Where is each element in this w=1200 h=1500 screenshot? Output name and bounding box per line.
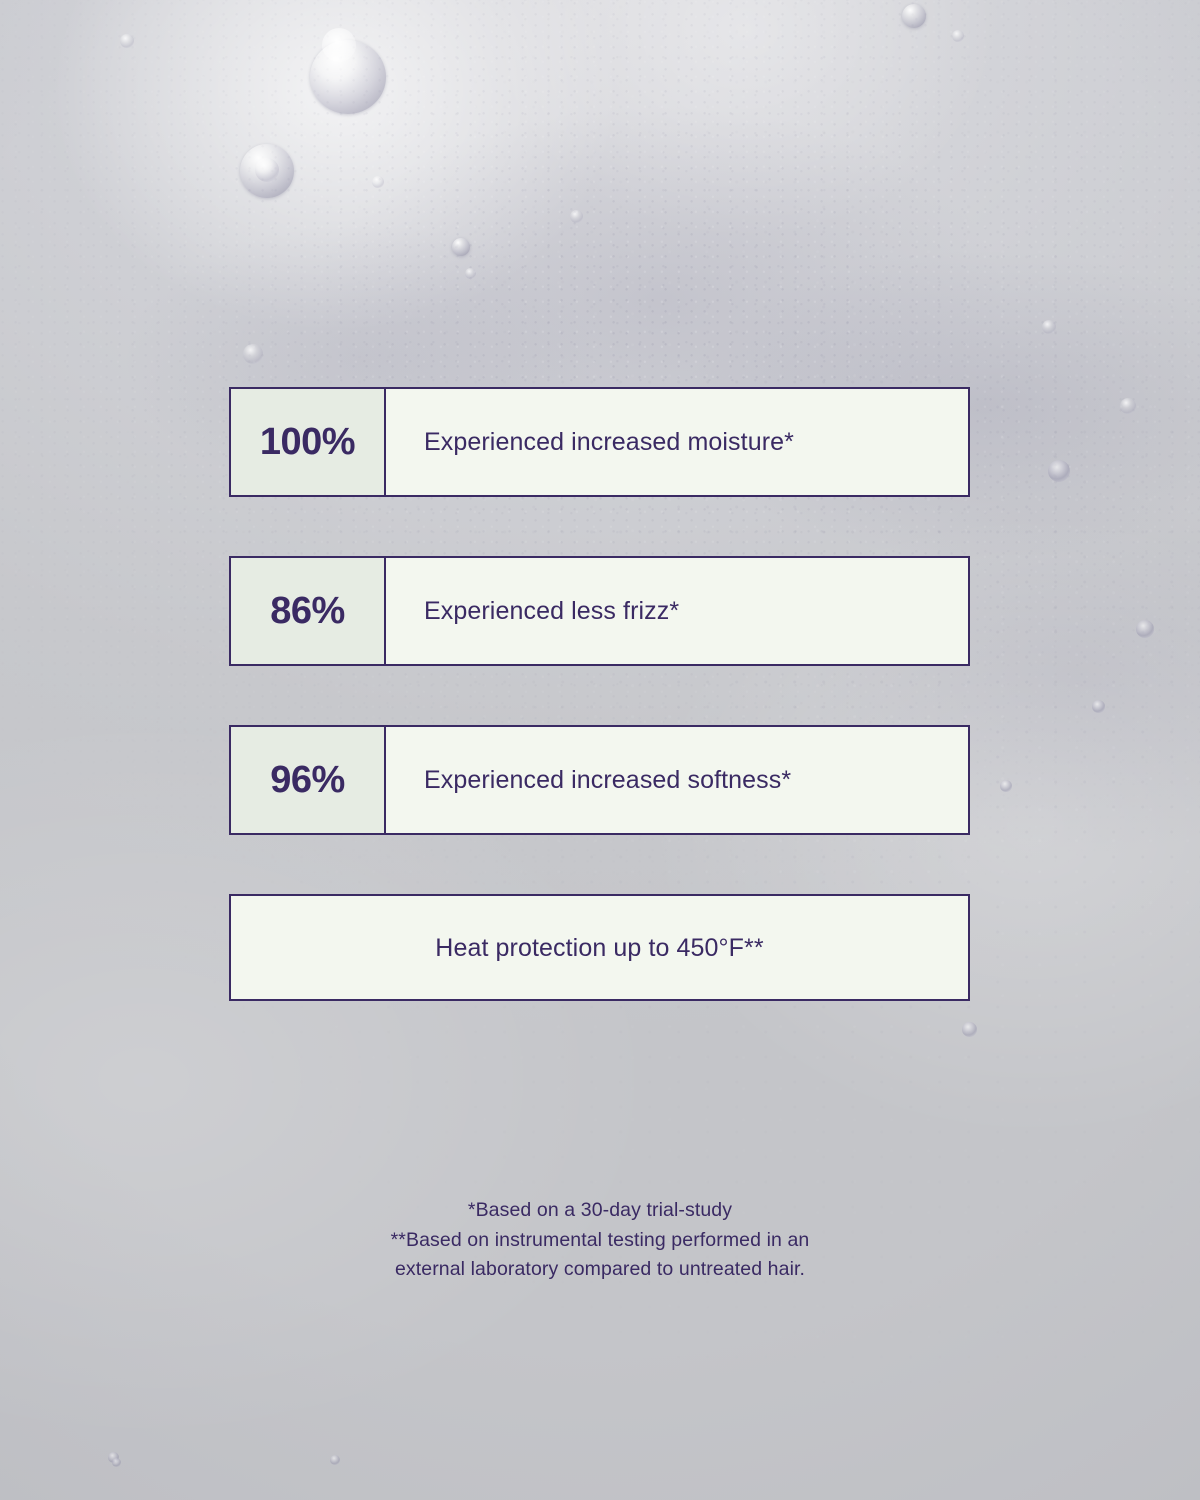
bubble-medium-left-inner (255, 158, 279, 182)
claim-label-softness: Experienced increased softness* (424, 765, 791, 795)
bubble-dot-right-g (962, 1022, 977, 1037)
stat-cell-moisture: 100% (231, 389, 386, 495)
bubble-large-top-highlight (322, 28, 356, 62)
bubble-small-topright (902, 4, 926, 28)
label-cell-softness: Experienced increased softness* (386, 727, 968, 833)
claim-card-heat-protection: Heat protection up to 450°F** (229, 894, 970, 1001)
bubble-small-lefttop (120, 34, 134, 48)
bubble-small-right-b (1120, 398, 1136, 414)
label-cell-moisture: Experienced increased moisture* (386, 389, 968, 495)
bubble-small-left-mid (243, 344, 263, 364)
bubble-small-mid-a (372, 176, 384, 188)
bubble-small-mid-d (452, 238, 470, 256)
footnote-line-3: external laboratory compared to untreate… (0, 1255, 1200, 1285)
bubble-small-right-a (1042, 320, 1056, 334)
stat-cell-softness: 96% (231, 727, 386, 833)
claim-card-moisture: 100% Experienced increased moisture* (229, 387, 970, 497)
claims-list: 100% Experienced increased moisture* 86%… (229, 387, 970, 1001)
claim-label-frizz: Experienced less frizz* (424, 596, 679, 626)
stat-value-softness: 96% (270, 761, 345, 799)
footnote-line-1: *Based on a 30-day trial-study (0, 1196, 1200, 1226)
claim-label-moisture: Experienced increased moisture* (424, 427, 794, 457)
claim-label-heat-protection: Heat protection up to 450°F** (435, 933, 763, 963)
bubble-dot-right-c (1048, 460, 1070, 482)
footnote-line-2: **Based on instrumental testing performe… (0, 1226, 1200, 1256)
stat-value-moisture: 100% (260, 423, 355, 461)
bubble-dot-right-f (1000, 780, 1012, 792)
label-cell-frizz: Experienced less frizz* (386, 558, 968, 664)
claim-card-frizz: 86% Experienced less frizz* (229, 556, 970, 666)
bubble-dot-right-e (1092, 700, 1105, 713)
bubble-small-mid-c (465, 268, 476, 279)
stat-cell-frizz: 86% (231, 558, 386, 664)
promo-claims-graphic: 100% Experienced increased moisture* 86%… (0, 0, 1200, 1500)
label-cell-heat-protection: Heat protection up to 450°F** (231, 896, 968, 999)
bubble-dot-right-d (1136, 620, 1154, 638)
bubble-dot-topright (952, 30, 964, 42)
stat-value-frizz: 86% (270, 592, 345, 630)
claim-card-softness: 96% Experienced increased softness* (229, 725, 970, 835)
bubble-dot-bottom-mid (330, 1455, 340, 1465)
bubble-dot-left-low (112, 1458, 121, 1467)
footnotes-block: *Based on a 30-day trial-study **Based o… (0, 1196, 1200, 1285)
bubble-small-mid-b (570, 210, 583, 223)
